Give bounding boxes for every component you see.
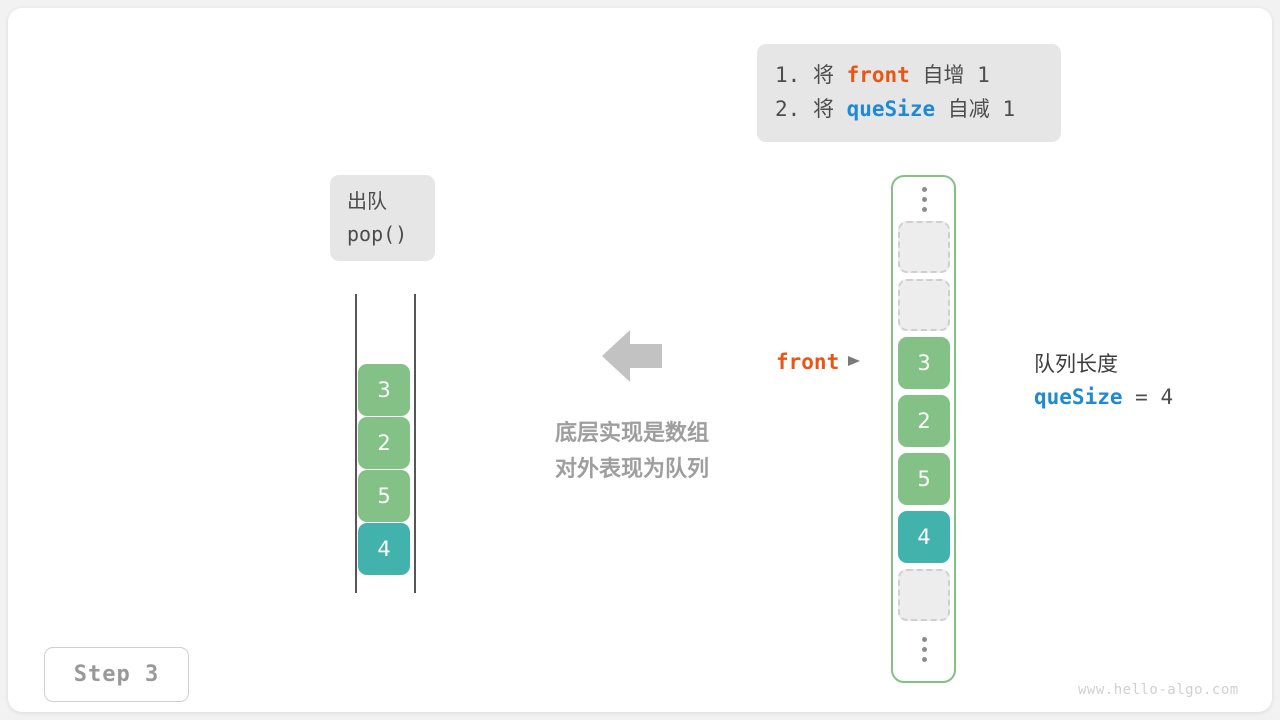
diagram-canvas: 1. 将 front 自增 1 2. 将 queSize 自减 1 出队 pop… [8, 8, 1272, 712]
pop-label-line-1: 出队 [330, 175, 435, 218]
queue-cell: 4 [358, 523, 410, 575]
array-ellipsis-top-icon [898, 177, 950, 221]
array-slot-list: 3254 [898, 177, 951, 671]
op-line2-post: 自减 [948, 97, 990, 121]
array-slot: 2 [898, 395, 950, 447]
queue-rail-right [414, 294, 416, 593]
front-pointer: front [776, 350, 861, 374]
array-ellipsis-bottom-icon [898, 627, 950, 671]
queue-size-expression: queSize = 4 [1034, 380, 1173, 414]
operation-note-line-2: 2. 将 queSize 自减 1 [757, 92, 1061, 126]
op-line2-pre: 将 [813, 97, 834, 121]
op-line2-index: 2. [775, 97, 800, 121]
array-slot-empty [898, 221, 950, 273]
quesize-value: 4 [1160, 385, 1173, 409]
array-slot-empty [898, 569, 950, 621]
step-badge: Step 3 [44, 647, 189, 702]
queue-size-label: 队列长度 [1034, 348, 1173, 380]
watermark: www.hello-algo.com [1078, 682, 1239, 698]
op-line1-index: 1. [775, 63, 800, 87]
caption-line-2: 对外表现为队列 [528, 452, 736, 488]
left-arrow-icon [602, 330, 662, 386]
array-slot: 5 [898, 453, 950, 505]
op-line1-value: 1 [977, 63, 990, 87]
array-container: 3254 [891, 175, 956, 683]
op-line1-pre: 将 [813, 63, 834, 87]
array-slot-empty [898, 279, 950, 331]
op-line2-value: 1 [1002, 97, 1015, 121]
operation-note-line-1: 1. 将 front 自增 1 [757, 58, 1061, 92]
front-pointer-arrow-icon [847, 353, 861, 372]
queue-size-info: 队列长度 queSize = 4 [1034, 348, 1173, 414]
queue-rail-left [355, 294, 357, 593]
quesize-equals: = [1135, 385, 1148, 409]
op-line1-keyword: front [847, 63, 910, 87]
pop-operation-label: 出队 pop() [330, 175, 435, 261]
quesize-var-name: queSize [1034, 385, 1123, 409]
queue-cell-list: 3254 [358, 364, 410, 576]
op-line1-post: 自增 [922, 63, 964, 87]
front-pointer-label: front [776, 350, 839, 374]
pop-label-line-2: pop() [330, 218, 435, 251]
queue-cell: 3 [358, 364, 410, 416]
array-slot: 4 [898, 511, 950, 563]
array-slot: 3 [898, 337, 950, 389]
step-badge-label: Step 3 [74, 662, 159, 687]
queue-cell: 5 [358, 470, 410, 522]
op-line2-keyword: queSize [847, 97, 936, 121]
diagram-caption: 底层实现是数组 对外表现为队列 [528, 416, 736, 488]
queue-cell: 2 [358, 417, 410, 469]
caption-line-1: 底层实现是数组 [528, 416, 736, 452]
operation-note: 1. 将 front 自增 1 2. 将 queSize 自减 1 [757, 44, 1061, 142]
